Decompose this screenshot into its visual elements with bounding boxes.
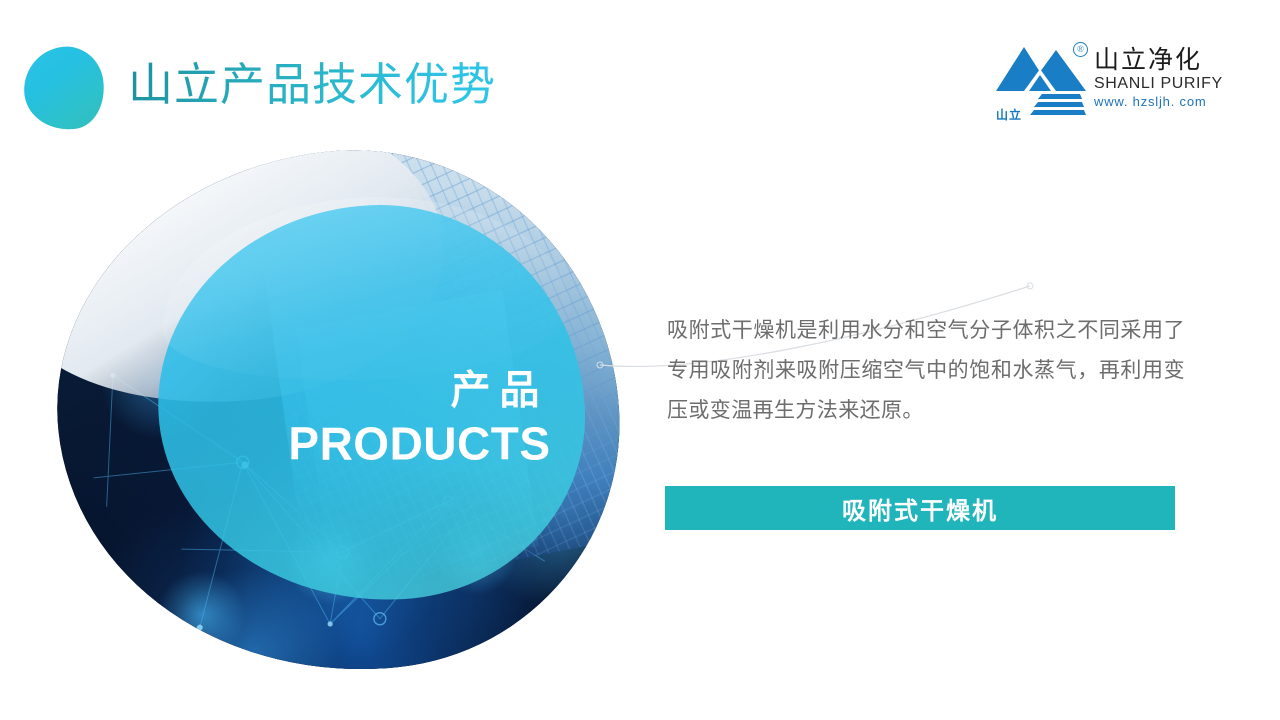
products-hero-graphic: 产品 PRODUCTS	[58, 152, 618, 672]
decorative-blob-icon	[19, 42, 110, 135]
product-caption-text: 吸附式干燥机	[842, 491, 998, 526]
logo-mark-caption: 山立	[996, 106, 1022, 123]
hero-blob-outer: 产品 PRODUCTS	[32, 124, 643, 700]
logo-company-en: SHANLI PURIFY	[1094, 74, 1224, 93]
product-caption-bar[interactable]: 吸附式干燥机	[665, 486, 1175, 530]
registered-trademark-icon: ®	[1073, 42, 1088, 57]
products-label-cn: 产品	[159, 365, 551, 417]
products-label: 产品 PRODUCTS	[159, 365, 551, 471]
slide-canvas: 山立产品技术优势 ® 山立 山立净化 SHANLI PURIFY www. hz…	[0, 0, 1280, 720]
products-label-en: PRODUCTS	[159, 417, 551, 471]
product-description: 吸附式干燥机是利用水分和空气分子体积之不同采用了专用吸附剂来吸附压缩空气中的饱和…	[667, 310, 1185, 430]
logo-website: www. hzsljh. com	[1094, 93, 1224, 110]
logo-wordmark: 山立净化 SHANLI PURIFY www. hzsljh. com	[1094, 45, 1224, 110]
logo-company-cn: 山立净化	[1094, 45, 1224, 74]
page-title: 山立产品技术优势	[128, 56, 496, 114]
company-logo: ® 山立 山立净化 SHANLI PURIFY www. hzsljh. com	[994, 41, 1222, 125]
